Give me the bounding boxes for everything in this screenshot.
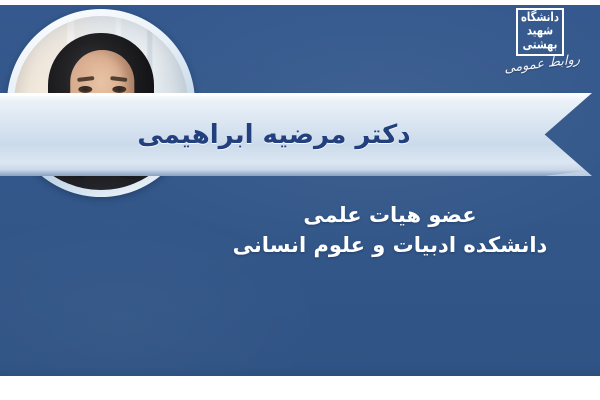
top-white-border bbox=[0, 0, 600, 5]
public-relations-script: روابط عمومی bbox=[481, 52, 581, 79]
eyebrow-right bbox=[110, 76, 127, 82]
university-seal-icon: دانشگاه شهید بهشتی bbox=[516, 8, 564, 56]
university-logo: دانشگاه شهید بهشتی روابط عمومی bbox=[478, 8, 582, 86]
university-seal-label: دانشگاه شهید بهشتی bbox=[518, 11, 562, 53]
affiliation-block: عضو هیات علمی دانشکده ادبیات و علوم انسا… bbox=[190, 200, 590, 261]
person-name: دکتر مرضیه ابراهیمی bbox=[0, 93, 548, 176]
eyebrow-left bbox=[77, 76, 94, 82]
bottom-white-border bbox=[0, 376, 600, 400]
eye-right bbox=[112, 86, 126, 93]
eye-left bbox=[78, 86, 92, 93]
role-line: عضو هیات علمی bbox=[190, 200, 590, 230]
faculty-line: دانشکده ادبیات و علوم انسانی bbox=[190, 230, 590, 260]
faculty-profile-banner: دکتر مرضیه ابراهیمی عضو هیات علمی دانشکد… bbox=[0, 0, 600, 400]
